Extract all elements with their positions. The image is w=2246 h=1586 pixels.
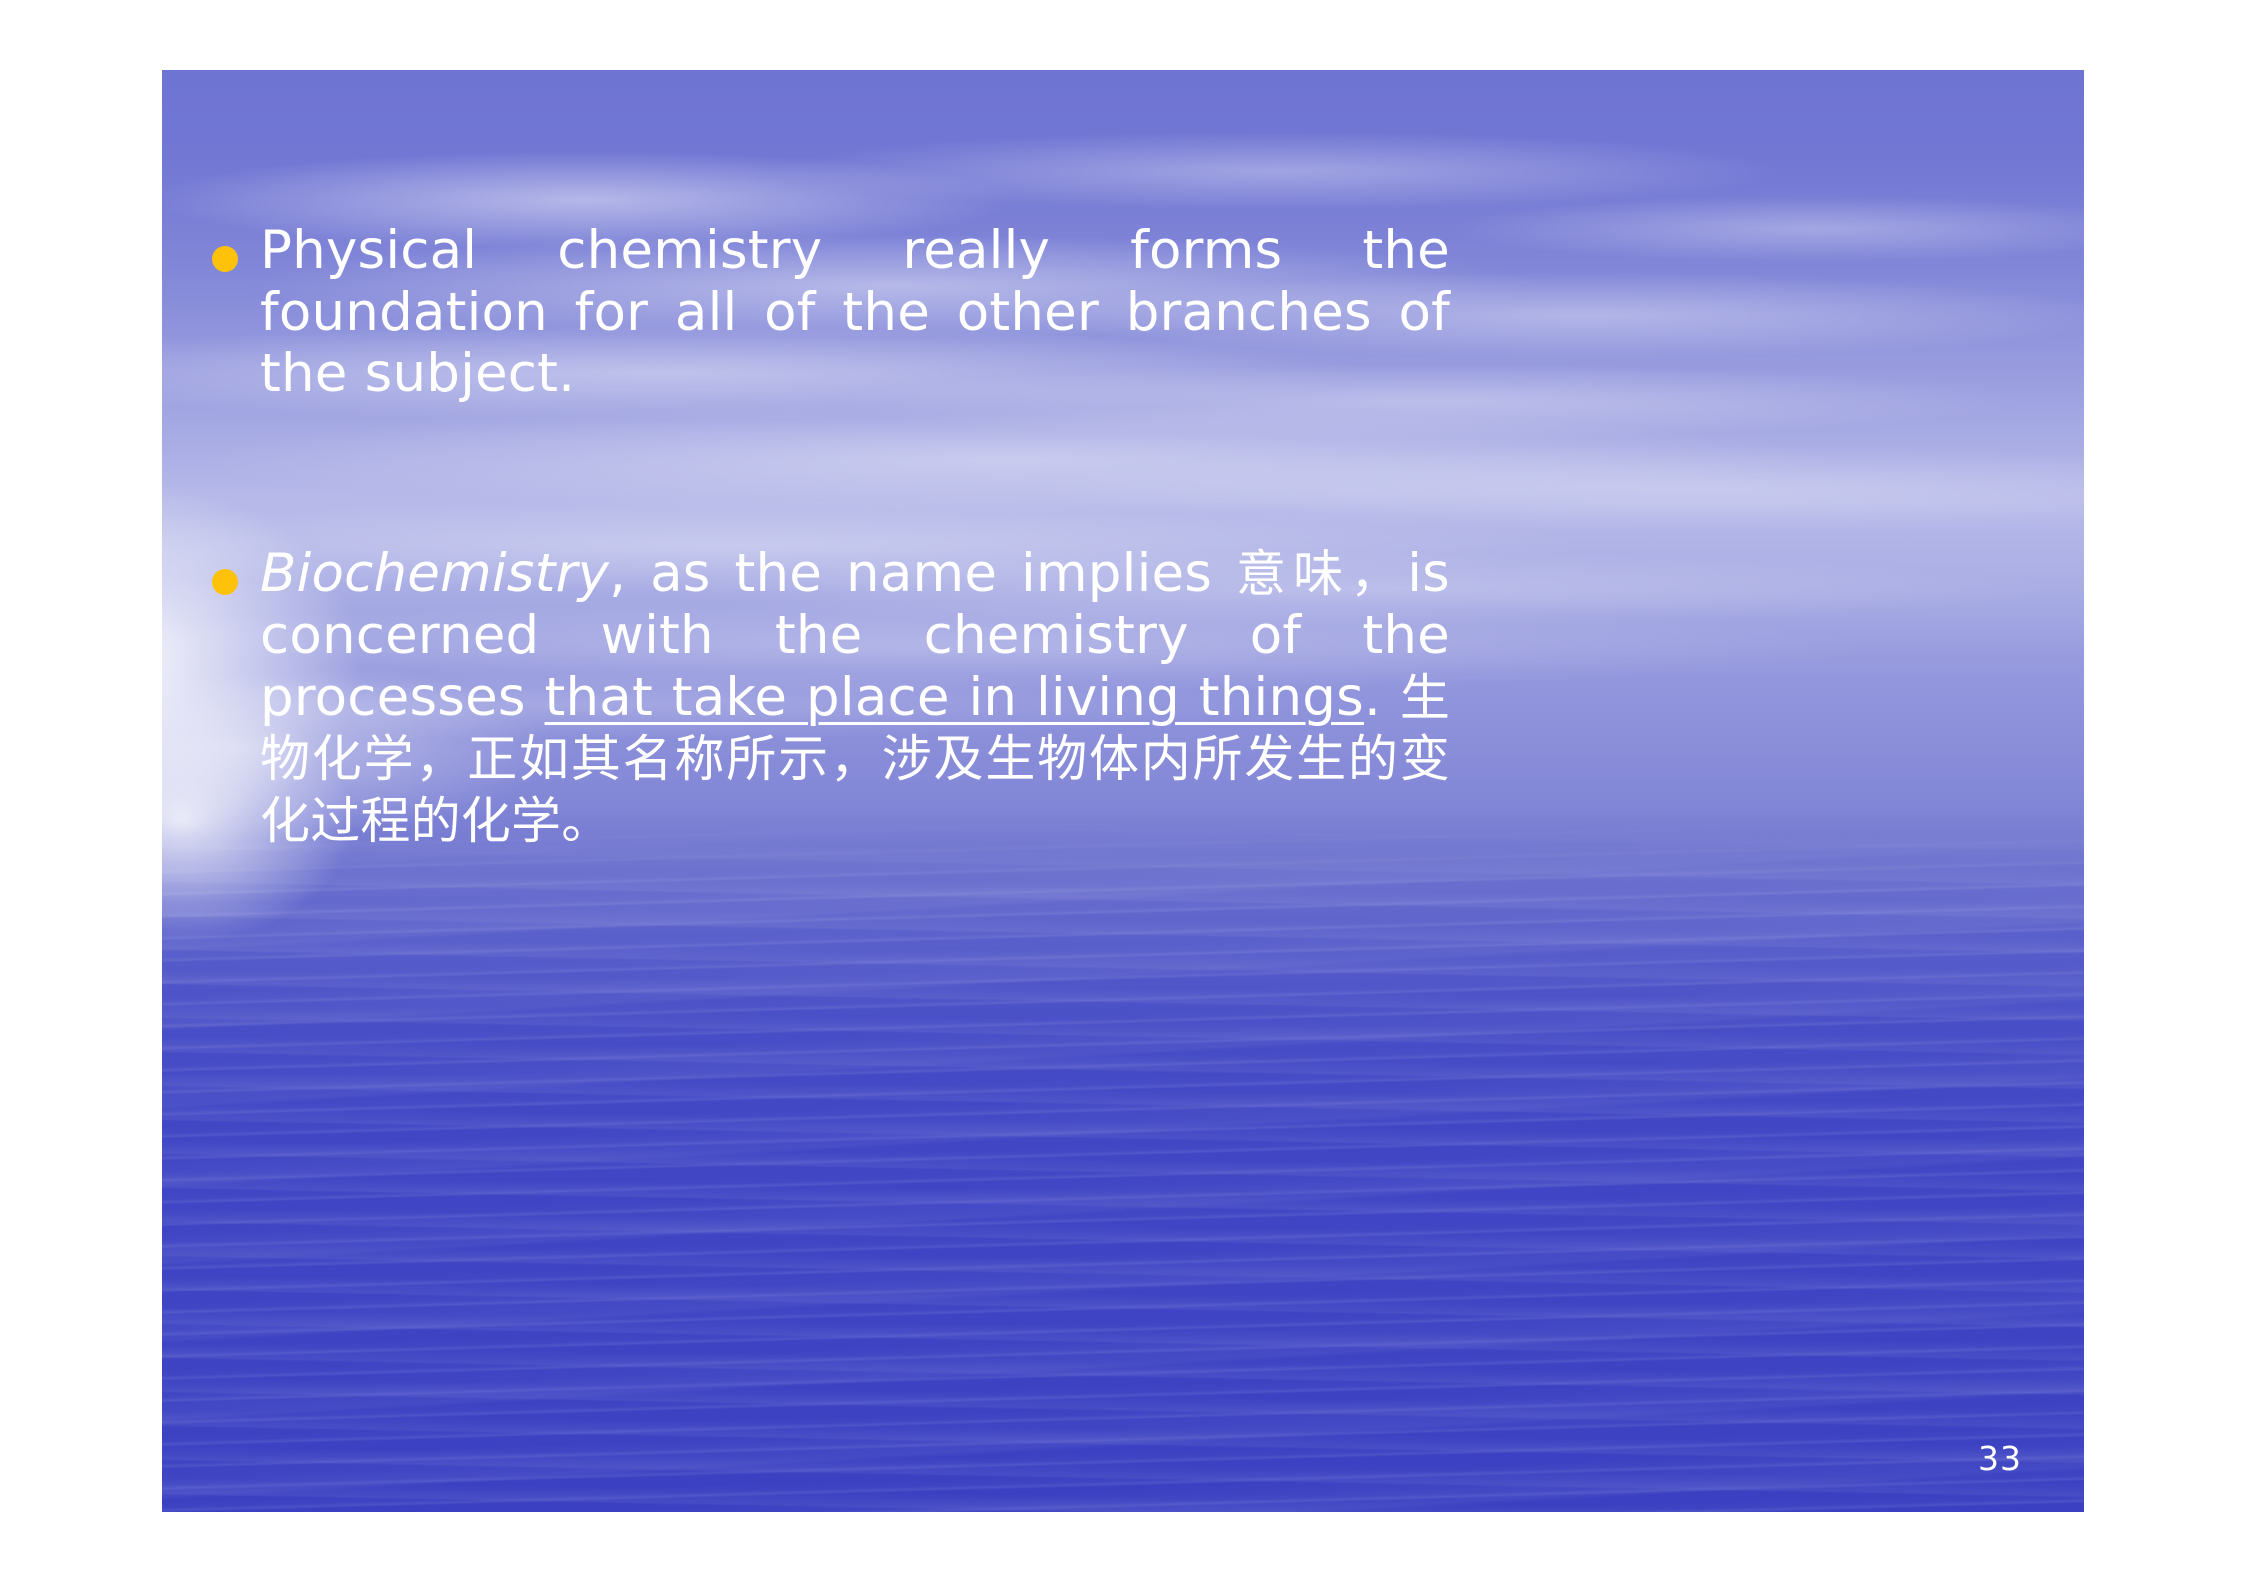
bullet-2-text: Biochemistry, as the name implies 意味，is …: [260, 543, 1450, 852]
page-number: 33: [1978, 1439, 2022, 1478]
slide-body: Physical chemistry really forms the foun…: [200, 220, 1450, 852]
bullet-1-text: Physical chemistry really forms the foun…: [260, 220, 1450, 405]
bullet-2-term-biochemistry: Biochemistry: [260, 543, 609, 604]
bullet-2-segment-as-the-name-implies: , as the name implies: [609, 543, 1236, 604]
bullet-2-underlined-clause: that take place in living things: [545, 667, 1364, 728]
bullet-2-gloss-yiwei: 意味，: [1236, 545, 1407, 603]
bullet-item-2: Biochemistry, as the name implies 意味，is …: [200, 543, 1450, 852]
bullet-dot-icon: [212, 569, 238, 595]
bullet-dot-icon: [212, 246, 238, 272]
bullet-2-segment-period: .: [1364, 667, 1400, 728]
background-water-ripples: [162, 820, 2084, 1512]
bullet-item-1: Physical chemistry really forms the foun…: [200, 220, 1450, 405]
bullet-1-segment-plain: Physical chemistry really forms the foun…: [260, 220, 1450, 404]
slide-canvas: Physical chemistry really forms the foun…: [162, 70, 2084, 1512]
